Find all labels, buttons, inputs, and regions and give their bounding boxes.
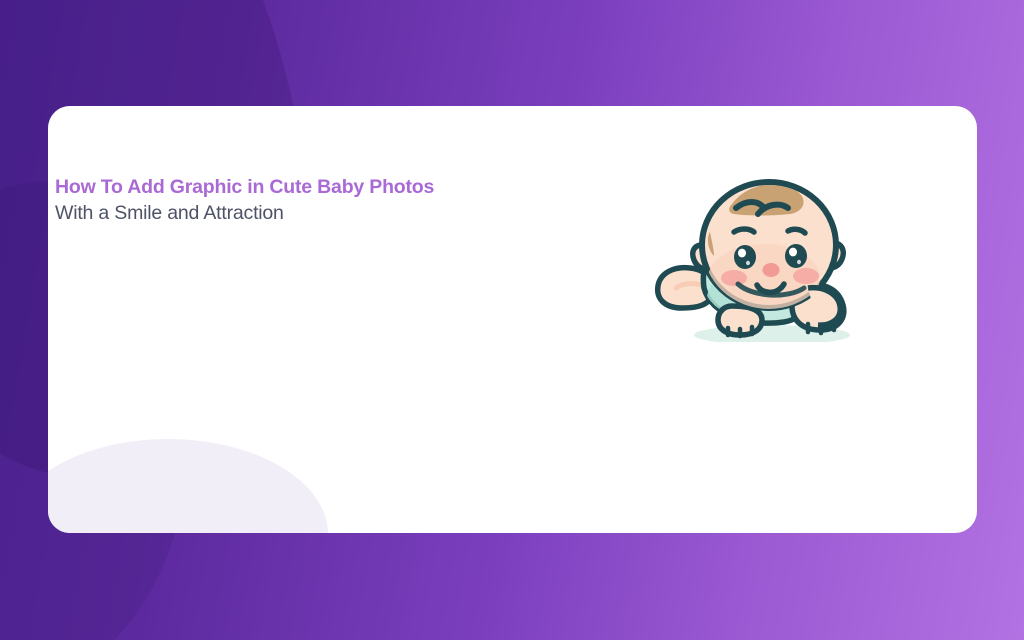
headline-accent-text: How To Add Graphic in Cute Baby Photos [55, 176, 434, 198]
banner-canvas: How To Add Graphic in Cute Baby Photos W… [0, 0, 1024, 640]
card-decor-blob [48, 439, 328, 533]
headline-rest-text: With a Smile and Attraction [55, 202, 284, 224]
baby-illustration-svg [612, 92, 882, 342]
baby-nose [763, 263, 780, 277]
baby-left-hand [718, 306, 762, 336]
headline: How To Add Graphic in Cute Baby Photos W… [55, 174, 455, 226]
crawling-baby-illustration [612, 92, 882, 342]
